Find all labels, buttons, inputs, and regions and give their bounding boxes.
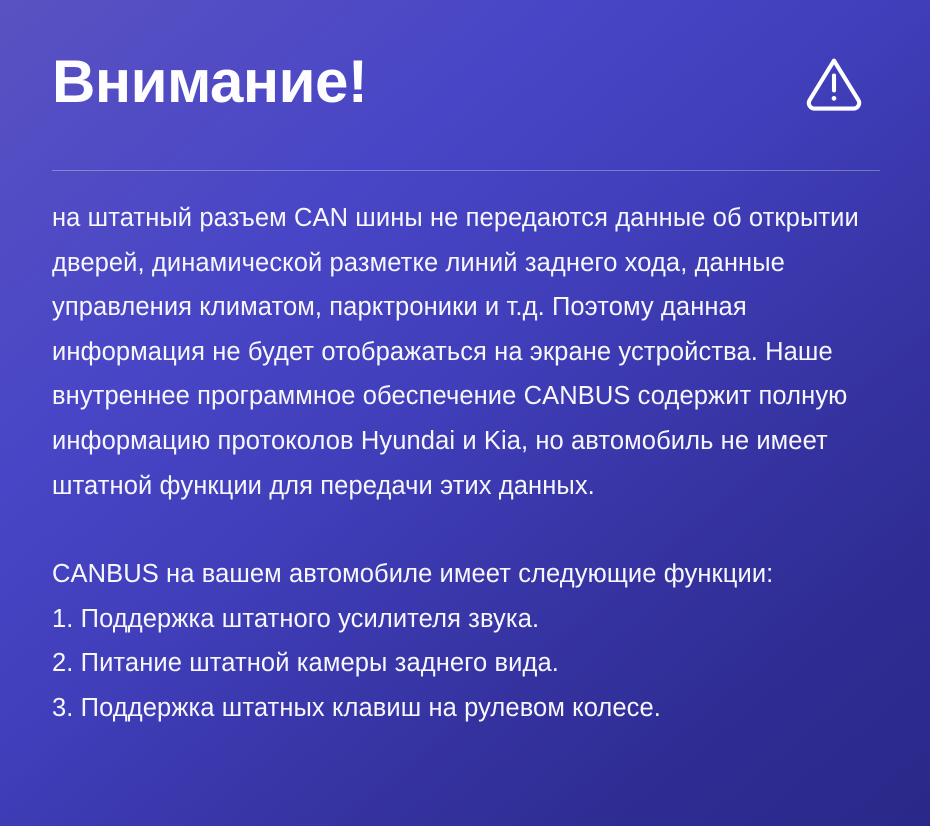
list-item: 1. Поддержка штатного усилителя звука. — [52, 597, 884, 642]
list-item-index: 1. — [52, 605, 73, 633]
notice-body: на штатный разъем CAN шины не передаются… — [52, 196, 884, 731]
functions-block: CANBUS на вашем автомобиле имеет следующ… — [52, 552, 884, 730]
list-item-index: 2. — [52, 649, 73, 677]
functions-intro: CANBUS на вашем автомобиле имеет следующ… — [52, 552, 884, 597]
list-item-label: Питание штатной камеры заднего вида. — [81, 649, 559, 677]
warning-notice-card: Внимание! на штатный разъем CAN шины не … — [0, 0, 930, 826]
notice-header: Внимание! — [0, 0, 930, 170]
functions-list: 1. Поддержка штатного усилителя звука. 2… — [52, 597, 884, 731]
list-item-label: Поддержка штатных клавиш на рулевом коле… — [81, 694, 661, 722]
page-title: Внимание! — [52, 52, 367, 118]
intro-paragraph: на штатный разъем CAN шины не передаются… — [52, 196, 884, 508]
list-item-index: 3. — [52, 694, 73, 722]
list-item-label: Поддержка штатного усилителя звука. — [81, 605, 540, 633]
warning-triangle-icon — [804, 53, 864, 113]
list-item: 3. Поддержка штатных клавиш на рулевом к… — [52, 686, 884, 731]
list-item: 2. Питание штатной камеры заднего вида. — [52, 641, 884, 686]
header-divider — [52, 170, 880, 171]
